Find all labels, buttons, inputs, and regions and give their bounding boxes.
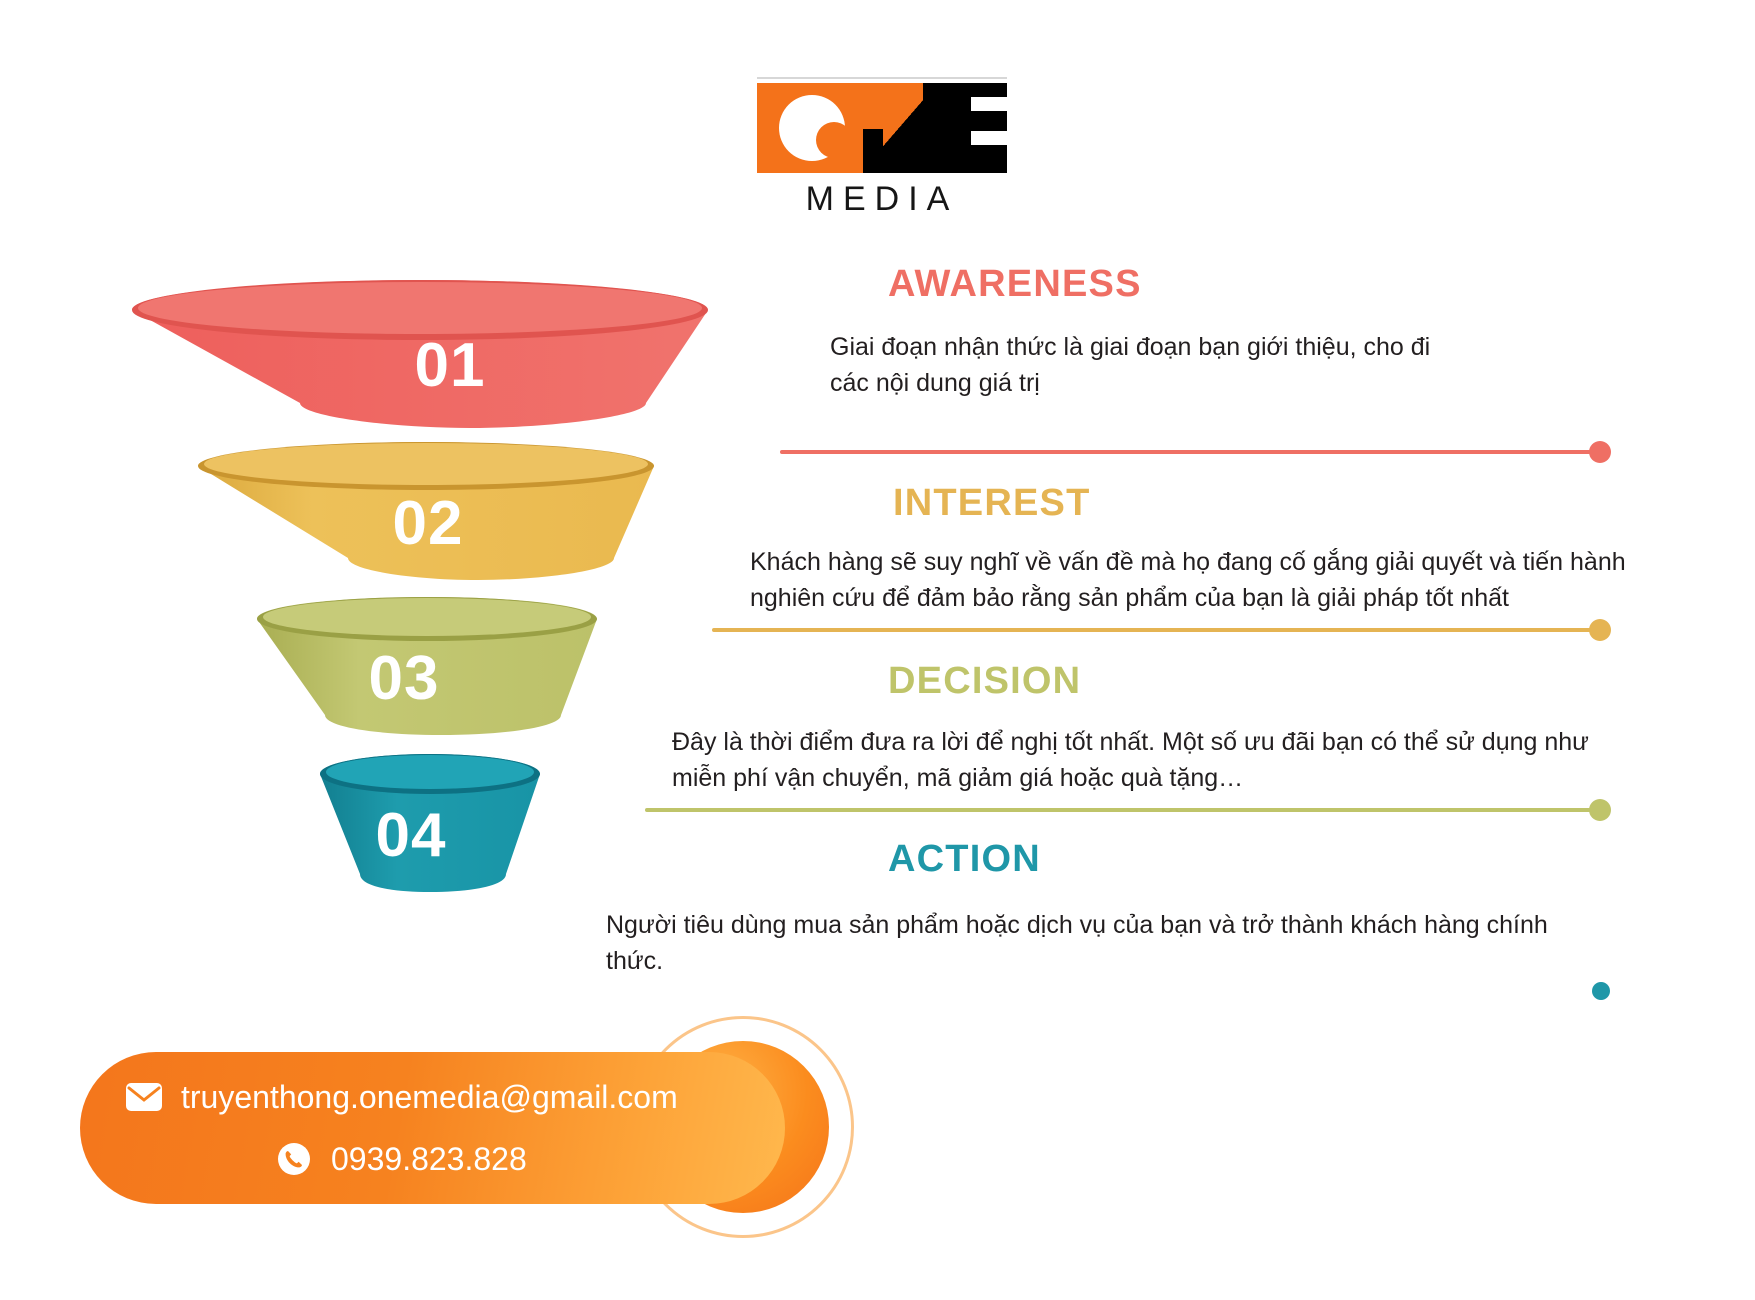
divider-dot-awareness <box>1589 441 1611 463</box>
funnel-stage-1: 01 <box>130 278 810 433</box>
logo-letter-n <box>863 83 941 173</box>
logo-n-left-stem <box>863 129 883 173</box>
footer-email-row[interactable]: truyenthong.onemedia@gmail.com <box>125 1078 678 1116</box>
stage-title-interest: INTEREST <box>893 482 1091 525</box>
funnel-stage-3-number: 03 <box>189 643 619 714</box>
funnel-stage-1-number: 01 <box>110 330 790 401</box>
logo-top-rule <box>757 77 1007 79</box>
divider-dot-decision <box>1589 799 1611 821</box>
stage-title-awareness: AWARENESS <box>888 263 1142 306</box>
one-media-logo: MEDIA <box>757 77 1007 222</box>
stage-body-awareness: Giai đoạn nhận thức là giai đoạn bạn giớ… <box>830 330 1470 401</box>
logo-o-dot <box>816 122 852 158</box>
logo-letter-o <box>757 83 863 173</box>
stage-body-decision: Đây là thời điểm đưa ra lời để nghị tốt … <box>672 725 1612 796</box>
funnel-stage-2-number: 02 <box>148 488 708 559</box>
funnel-stage-2: 02 <box>196 440 756 585</box>
divider-interest <box>712 628 1602 632</box>
logo-e-gap-upper <box>971 97 1007 111</box>
logo-o-ring <box>779 95 845 161</box>
footer-phone-text: 0939.823.828 <box>331 1141 527 1178</box>
phone-icon <box>275 1140 313 1178</box>
envelope-icon <box>125 1078 163 1116</box>
footer-contact-pill <box>80 1052 785 1204</box>
logo-n-right-stem <box>923 83 941 173</box>
stage-body-action: Người tiêu dùng mua sản phẩm hoặc dịch v… <box>606 908 1576 979</box>
logo-letter-e <box>941 83 1007 173</box>
infographic-canvas: MEDIA 01 02 <box>0 0 1755 1300</box>
funnel-stage-4-number: 04 <box>276 800 546 871</box>
divider-awareness <box>780 450 1602 454</box>
stage-title-decision: DECISION <box>888 660 1081 703</box>
divider-dot-interest <box>1589 619 1611 641</box>
logo-wordmark: MEDIA <box>767 180 997 219</box>
stage-title-action: ACTION <box>888 838 1041 881</box>
stage-body-interest: Khách hàng sẽ suy nghĩ về vấn đề mà họ đ… <box>750 545 1660 616</box>
footer-email-text: truyenthong.onemedia@gmail.com <box>181 1079 678 1116</box>
logo-e-gap-lower <box>971 131 1007 145</box>
divider-dot-action <box>1592 982 1610 1000</box>
logo-mark-one <box>757 83 1007 173</box>
footer-phone-row[interactable]: 0939.823.828 <box>275 1140 527 1178</box>
divider-decision <box>645 808 1602 812</box>
funnel-stage-3: 03 <box>255 595 685 740</box>
funnel-stage-4: 04 <box>318 752 588 897</box>
